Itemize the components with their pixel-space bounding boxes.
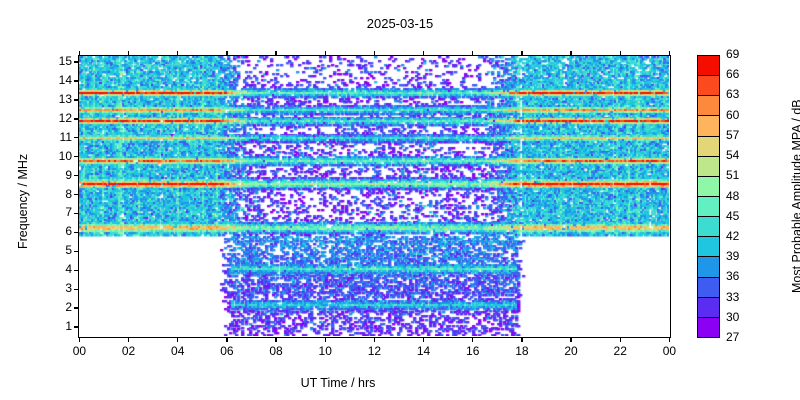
- x-tick-mark: [275, 337, 276, 342]
- colorbar-segment: [698, 297, 719, 317]
- colorbar-segment: [698, 317, 719, 337]
- colorbar-tick-label: 69: [726, 47, 739, 61]
- x-tick-label: 12: [359, 344, 389, 358]
- x-tick-mark: [570, 337, 571, 342]
- x-tick-label: 02: [114, 344, 144, 358]
- colorbar-tick-label: 66: [726, 67, 739, 81]
- y-tick-mark: [74, 194, 79, 195]
- colorbar-segment: [698, 256, 719, 276]
- colorbar-segment: [698, 277, 719, 297]
- colorbar-segment: [698, 156, 719, 176]
- x-tick-label: 20: [556, 344, 586, 358]
- colorbar-tick-label: 42: [726, 229, 739, 243]
- y-tick-label: 1: [46, 319, 72, 333]
- y-tick-mark: [74, 61, 79, 62]
- x-tick-mark: [669, 337, 670, 342]
- colorbar-tick-label: 33: [726, 290, 739, 304]
- spectrogram-page: 2025-03-15 Frequency / MHz 1234567891011…: [0, 0, 800, 400]
- y-tick-mark: [74, 213, 79, 214]
- colorbar-segment: [698, 75, 719, 95]
- x-tick-mark-top: [374, 51, 375, 56]
- y-tick-mark: [74, 232, 79, 233]
- y-tick-label: 3: [46, 281, 72, 295]
- x-tick-mark: [472, 337, 473, 342]
- x-tick-label: 16: [458, 344, 488, 358]
- y-tick-label: 15: [46, 54, 72, 68]
- spectrogram-canvas[interactable]: [79, 56, 669, 336]
- colorbar-tick-label: 39: [726, 249, 739, 263]
- x-tick-label: 04: [163, 344, 193, 358]
- y-tick-label: 5: [46, 243, 72, 257]
- x-tick-mark: [79, 337, 80, 342]
- x-tick-mark: [128, 337, 129, 342]
- y-tick-mark: [74, 156, 79, 157]
- colorbar-segment: [698, 56, 719, 75]
- y-tick-mark: [74, 137, 79, 138]
- x-tick-label: 08: [261, 344, 291, 358]
- plot-area[interactable]: [78, 55, 671, 338]
- colorbar-tick-label: 54: [726, 148, 739, 162]
- x-tick-label: 22: [605, 344, 635, 358]
- page-title: 2025-03-15: [0, 16, 800, 31]
- colorbar-tick-label: 30: [726, 310, 739, 324]
- y-tick-label: 2: [46, 300, 72, 314]
- y-tick-mark: [74, 99, 79, 100]
- colorbar-segment: [698, 196, 719, 216]
- y-tick-label: 9: [46, 168, 72, 182]
- x-tick-mark-top: [570, 51, 571, 56]
- x-tick-mark-top: [177, 51, 178, 56]
- x-tick-mark-top: [79, 51, 80, 56]
- x-tick-mark-top: [275, 51, 276, 56]
- x-tick-mark-top: [128, 51, 129, 56]
- x-axis-label: UT Time / hrs: [0, 376, 738, 390]
- y-tick-mark: [74, 307, 79, 308]
- x-tick-label: 10: [310, 344, 340, 358]
- colorbar-tick-label: 63: [726, 87, 739, 101]
- x-tick-mark: [521, 337, 522, 342]
- colorbar-label: Most Probable Amplitude MPA / dB: [790, 99, 800, 293]
- x-tick-label: 18: [507, 344, 537, 358]
- y-tick-mark: [74, 80, 79, 81]
- x-tick-mark: [374, 337, 375, 342]
- x-tick-mark-top: [423, 51, 424, 56]
- colorbar: [697, 55, 720, 338]
- y-tick-mark: [74, 270, 79, 271]
- colorbar-tick-label: 60: [726, 108, 739, 122]
- x-tick-label: 00: [64, 344, 94, 358]
- y-tick-mark: [74, 251, 79, 252]
- y-tick-label: 12: [46, 111, 72, 125]
- x-tick-mark: [226, 337, 227, 342]
- x-tick-mark-top: [669, 51, 670, 56]
- colorbar-tick-label: 51: [726, 168, 739, 182]
- y-tick-label: 7: [46, 205, 72, 219]
- colorbar-tick-label: 48: [726, 189, 739, 203]
- y-tick-label: 6: [46, 224, 72, 238]
- x-tick-mark: [177, 337, 178, 342]
- colorbar-tick-label: 45: [726, 209, 739, 223]
- colorbar-segment: [698, 216, 719, 236]
- colorbar-tick-label: 27: [726, 330, 739, 344]
- colorbar-segment: [698, 236, 719, 256]
- y-tick-mark: [74, 175, 79, 176]
- colorbar-segment: [698, 95, 719, 115]
- x-tick-mark: [620, 337, 621, 342]
- y-tick-mark: [74, 118, 79, 119]
- x-tick-label: 06: [212, 344, 242, 358]
- y-axis-ticks: 123456789101112131415: [44, 0, 72, 400]
- x-tick-mark: [423, 337, 424, 342]
- colorbar-tick-label: 36: [726, 269, 739, 283]
- y-tick-label: 13: [46, 92, 72, 106]
- x-tick-mark-top: [325, 51, 326, 56]
- x-tick-mark-top: [521, 51, 522, 56]
- x-tick-mark-top: [226, 51, 227, 56]
- y-tick-label: 8: [46, 187, 72, 201]
- y-tick-mark: [74, 289, 79, 290]
- x-tick-label: 00: [654, 344, 684, 358]
- colorbar-tick-label: 57: [726, 128, 739, 142]
- y-tick-mark: [74, 326, 79, 327]
- x-tick-label: 14: [409, 344, 439, 358]
- y-tick-label: 14: [46, 73, 72, 87]
- colorbar-segment: [698, 136, 719, 156]
- x-tick-mark: [325, 337, 326, 342]
- x-tick-mark-top: [620, 51, 621, 56]
- y-tick-label: 11: [46, 130, 72, 144]
- y-axis-label: Frequency / MHz: [16, 153, 30, 248]
- colorbar-segment: [698, 176, 719, 196]
- colorbar-segment: [698, 115, 719, 135]
- y-tick-label: 10: [46, 149, 72, 163]
- x-tick-mark-top: [472, 51, 473, 56]
- y-tick-label: 4: [46, 262, 72, 276]
